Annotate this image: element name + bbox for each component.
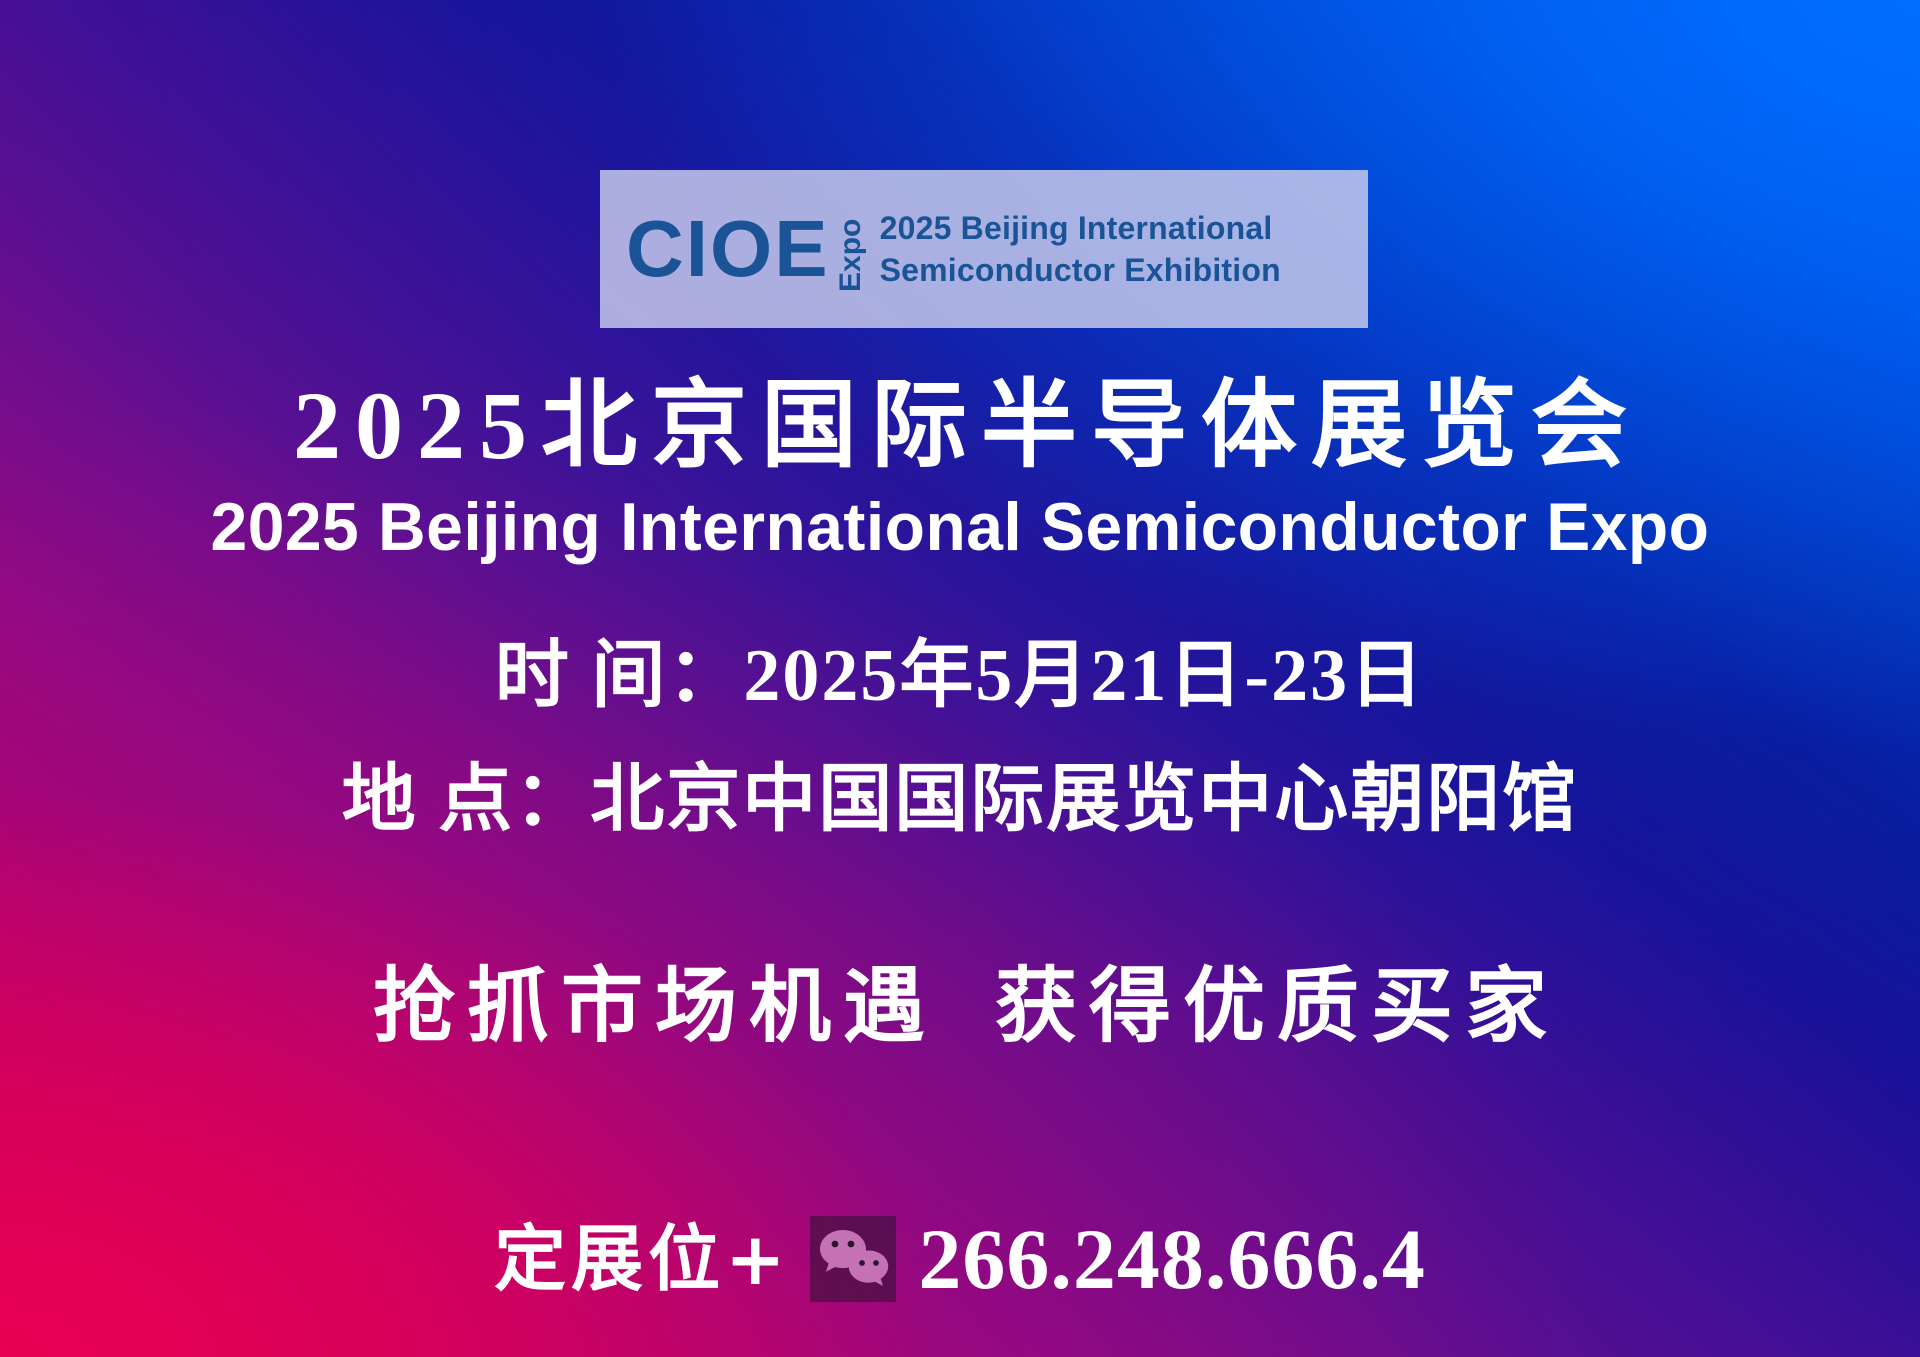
- logo-subtitle-line-2: Semiconductor Exhibition: [880, 249, 1281, 291]
- contact-row: 定展位+ 266.248.666.4: [0, 1216, 1920, 1302]
- event-date-line: 时 间：2025年5月21日-23日: [0, 636, 1920, 717]
- headline-chinese: 2025北京国际半导体展览会: [0, 376, 1920, 477]
- logo-subtitle: 2025 Beijing International Semiconductor…: [880, 207, 1281, 291]
- contact-phone-number: 266.248.666.4: [918, 1216, 1426, 1302]
- logo-subtitle-line-1: 2025 Beijing International: [880, 207, 1281, 249]
- slogan-part-1: 抢抓市场机遇: [373, 959, 937, 1054]
- slogan-line: 抢抓市场机遇获得优质买家: [0, 962, 1920, 1052]
- logo-wordmark: CIOE: [626, 209, 830, 289]
- event-venue-line: 地 点：北京中国国际展览中心朝阳馆: [0, 760, 1920, 841]
- logo-wordmark-suffix: Expo: [836, 206, 866, 292]
- cioe-logo-panel: CIOE Expo 2025 Beijing International Sem…: [600, 170, 1368, 328]
- slogan-part-2: 获得优质买家: [995, 959, 1559, 1054]
- headline-english: 2025 Beijing International Semiconductor…: [29, 490, 1891, 565]
- wechat-icon[interactable]: [810, 1216, 896, 1302]
- promotional-poster: CIOE Expo 2025 Beijing International Sem…: [0, 0, 1920, 1357]
- booking-cta-label: 定展位+: [494, 1223, 790, 1295]
